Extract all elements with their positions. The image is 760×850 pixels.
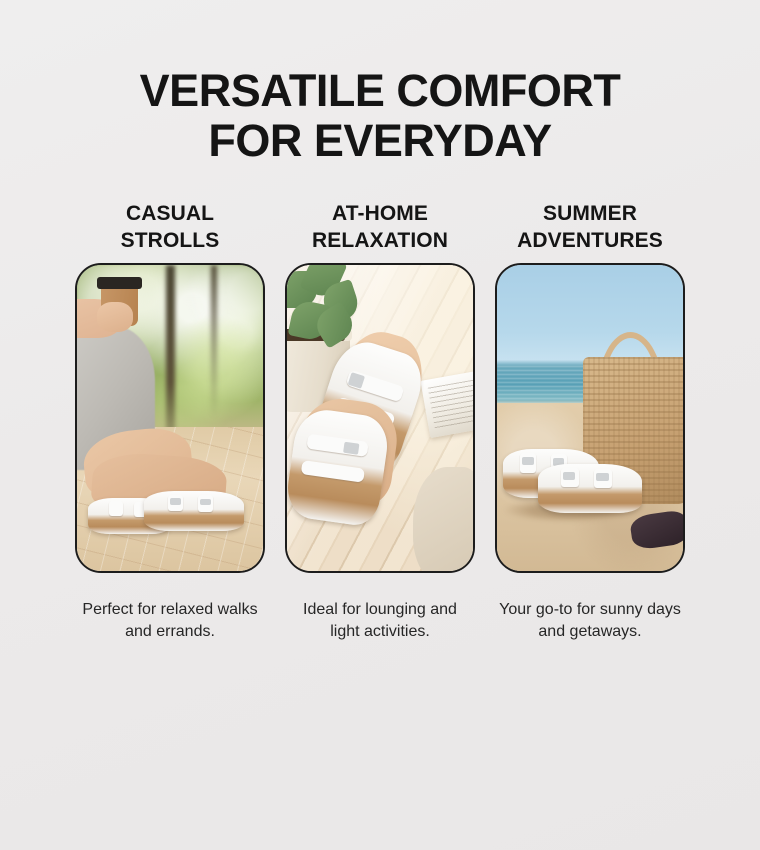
wooden-deck-photo: [287, 265, 473, 571]
promo-banner: VERSATILE COMFORT FOR EVERYDAY CASUAL ST…: [0, 0, 760, 850]
page-title: VERSATILE COMFORT FOR EVERYDAY: [0, 0, 760, 166]
headline-line-2: FOR EVERYDAY: [40, 116, 720, 166]
beach-photo: [497, 265, 683, 571]
column-title-line-2: ADVENTURES: [517, 229, 663, 252]
hand: [97, 302, 132, 333]
sandal-buckle: [596, 473, 608, 481]
column-title-line-2: STROLLS: [121, 229, 220, 252]
column-title-line-1: CASUAL: [126, 202, 214, 225]
open-book: [420, 370, 473, 438]
tree-trunk-secondary-icon: [211, 265, 217, 418]
feature-image-card[interactable]: [285, 263, 475, 573]
book-text-lines: [428, 379, 473, 429]
sandal-strap: [301, 460, 366, 483]
column-caption: Ideal for lounging and light activities.: [289, 573, 471, 643]
column-title: CASUAL STROLLS: [121, 200, 220, 254]
headline-line-1: VERSATILE COMFORT: [40, 66, 720, 116]
feature-image-card[interactable]: [75, 263, 265, 573]
column-title: AT-HOME RELAXATION: [312, 200, 448, 254]
column-title-line-1: AT-HOME: [332, 202, 428, 225]
column-title-line-1: SUMMER: [543, 202, 637, 225]
feature-column-at-home-relaxation: AT-HOME RELAXATION: [286, 200, 474, 643]
column-caption: Perfect for relaxed walks and errands.: [79, 573, 261, 643]
sandal-buckle: [200, 499, 211, 506]
sandal-buckle: [563, 472, 575, 480]
column-title: SUMMER ADVENTURES: [517, 200, 663, 254]
sandal-lower: [287, 406, 391, 528]
sandal-buckle: [170, 498, 181, 505]
sandal-strap: [306, 434, 369, 457]
feature-column-summer-adventures: SUMMER ADVENTURES: [496, 200, 684, 643]
sandal-right: [144, 491, 244, 531]
coffee-lid-icon: [97, 277, 142, 289]
leg-trouser: [413, 467, 473, 571]
sandal-strap: [109, 501, 122, 516]
park-path-photo: [77, 265, 263, 571]
sandal-right: [538, 464, 642, 513]
column-caption: Your go-to for sunny days and getaways.: [499, 573, 681, 643]
feature-columns: CASUAL STROLLS: [0, 166, 760, 643]
feature-image-card[interactable]: [495, 263, 685, 573]
column-title-line-2: RELAXATION: [312, 229, 448, 252]
sandal-buckle: [343, 441, 359, 454]
feature-column-casual-strolls: CASUAL STROLLS: [76, 200, 264, 643]
sandal-buckle: [522, 457, 534, 465]
